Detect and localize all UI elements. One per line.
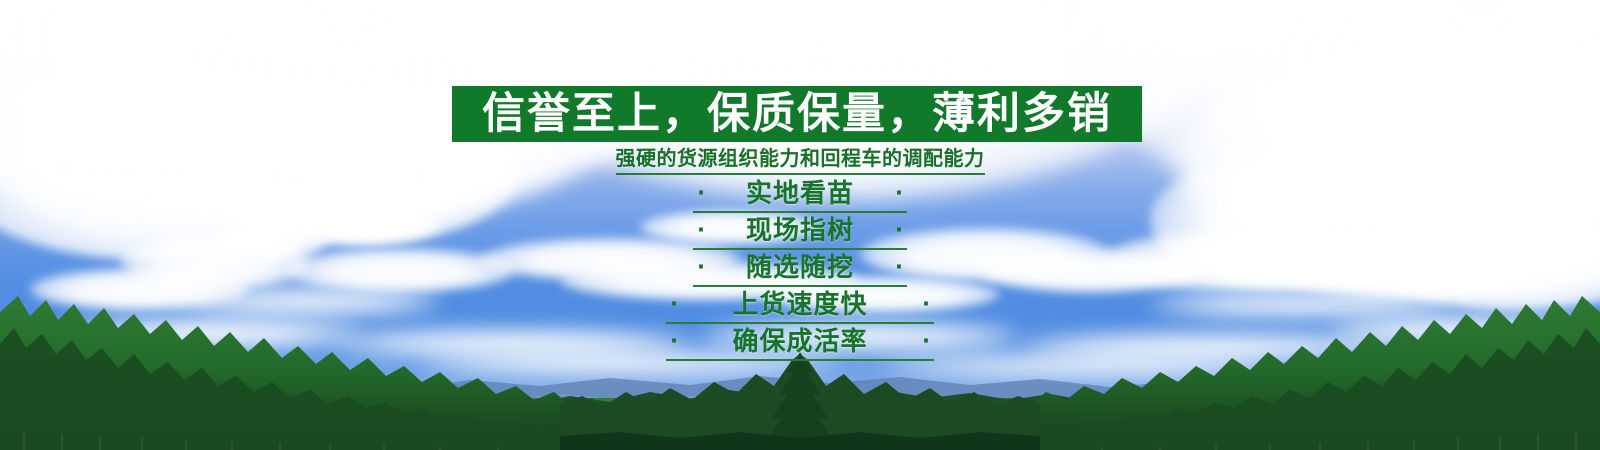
feature-item: · 确保成活率 ·: [0, 326, 1600, 363]
feature-item: · 实地看苗 ·: [0, 178, 1600, 215]
bullet-dot-icon: ·: [693, 257, 709, 278]
feature-label: 上货速度快: [718, 292, 881, 318]
subtitle-wrapper: 强硬的货源组织能力和回程车的调配能力: [0, 146, 1600, 175]
banner-content: 信誉至上，保质保量，薄利多销 强硬的货源组织能力和回程车的调配能力 · 实地看苗…: [0, 0, 1600, 450]
promotional-banner: 信誉至上，保质保量，薄利多销 强硬的货源组织能力和回程车的调配能力 · 实地看苗…: [0, 0, 1600, 450]
bullet-dot-icon: ·: [918, 294, 934, 315]
bullet-dot-icon: ·: [891, 220, 907, 241]
feature-inner: · 上货速度快 ·: [666, 292, 934, 324]
feature-inner: · 确保成活率 ·: [666, 329, 934, 361]
feature-item: · 随选随挖 ·: [0, 252, 1600, 289]
bullet-dot-icon: ·: [666, 331, 682, 352]
bullet-dot-icon: ·: [693, 183, 709, 204]
bullet-dot-icon: ·: [666, 294, 682, 315]
headline-banner: 信誉至上，保质保量，薄利多销: [452, 86, 1142, 142]
bullet-dot-icon: ·: [891, 257, 907, 278]
subtitle-text: 强硬的货源组织能力和回程车的调配能力: [616, 146, 985, 175]
feature-item: · 现场指树 ·: [0, 215, 1600, 252]
feature-label: 现场指树: [732, 218, 868, 244]
bullet-dot-icon: ·: [891, 183, 907, 204]
bullet-dot-icon: ·: [693, 220, 709, 241]
headline-text: 信誉至上，保质保量，薄利多销: [482, 93, 1112, 136]
feature-list: · 实地看苗 · · 现场指树 · · 随选随挖 ·: [0, 178, 1600, 363]
feature-label: 实地看苗: [732, 181, 868, 207]
feature-inner: · 随选随挖 ·: [693, 255, 907, 287]
feature-inner: · 现场指树 ·: [693, 218, 907, 250]
feature-label: 确保成活率: [718, 329, 881, 355]
feature-label: 随选随挖: [732, 255, 868, 281]
feature-item: · 上货速度快 ·: [0, 289, 1600, 326]
bullet-dot-icon: ·: [918, 331, 934, 352]
feature-inner: · 实地看苗 ·: [693, 181, 907, 213]
